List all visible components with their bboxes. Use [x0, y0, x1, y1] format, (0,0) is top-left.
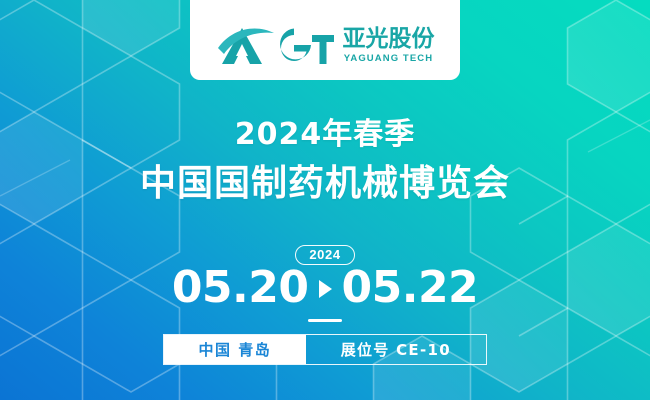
footer-bar: 中国 青岛 展位号 CE-10	[163, 334, 487, 365]
logo-panel: 亚光股份 YAGUANG TECH	[190, 0, 460, 80]
logo-company-name-en: YAGUANG TECH	[344, 54, 433, 64]
agt-logo-mark	[216, 24, 334, 68]
logo-company-name-cn: 亚光股份	[343, 28, 435, 51]
logo-lockup: 亚光股份 YAGUANG TECH	[216, 24, 435, 68]
year-badge-wrapper: 2024	[0, 245, 650, 265]
headline-block: 2024年春季 中国国制药机械博览会	[0, 118, 650, 205]
headline-line-2: 中国国制药机械博览会	[0, 163, 650, 205]
date-start: 05.20	[172, 266, 309, 310]
event-banner: 亚光股份 YAGUANG TECH 2024年春季 中国国制药机械博览会 202…	[0, 0, 650, 400]
logo-wordmark: 亚光股份 YAGUANG TECH	[343, 28, 435, 64]
headline-line-1: 2024年春季	[0, 118, 650, 153]
footer-location: 中国 青岛	[164, 335, 306, 364]
footer-booth-number: 展位号 CE-10	[306, 335, 486, 364]
arrow-right-icon	[319, 280, 332, 298]
date-divider-rule	[308, 319, 342, 322]
date-range: 05.20 05.22	[0, 266, 650, 310]
date-end: 05.22	[342, 266, 479, 310]
